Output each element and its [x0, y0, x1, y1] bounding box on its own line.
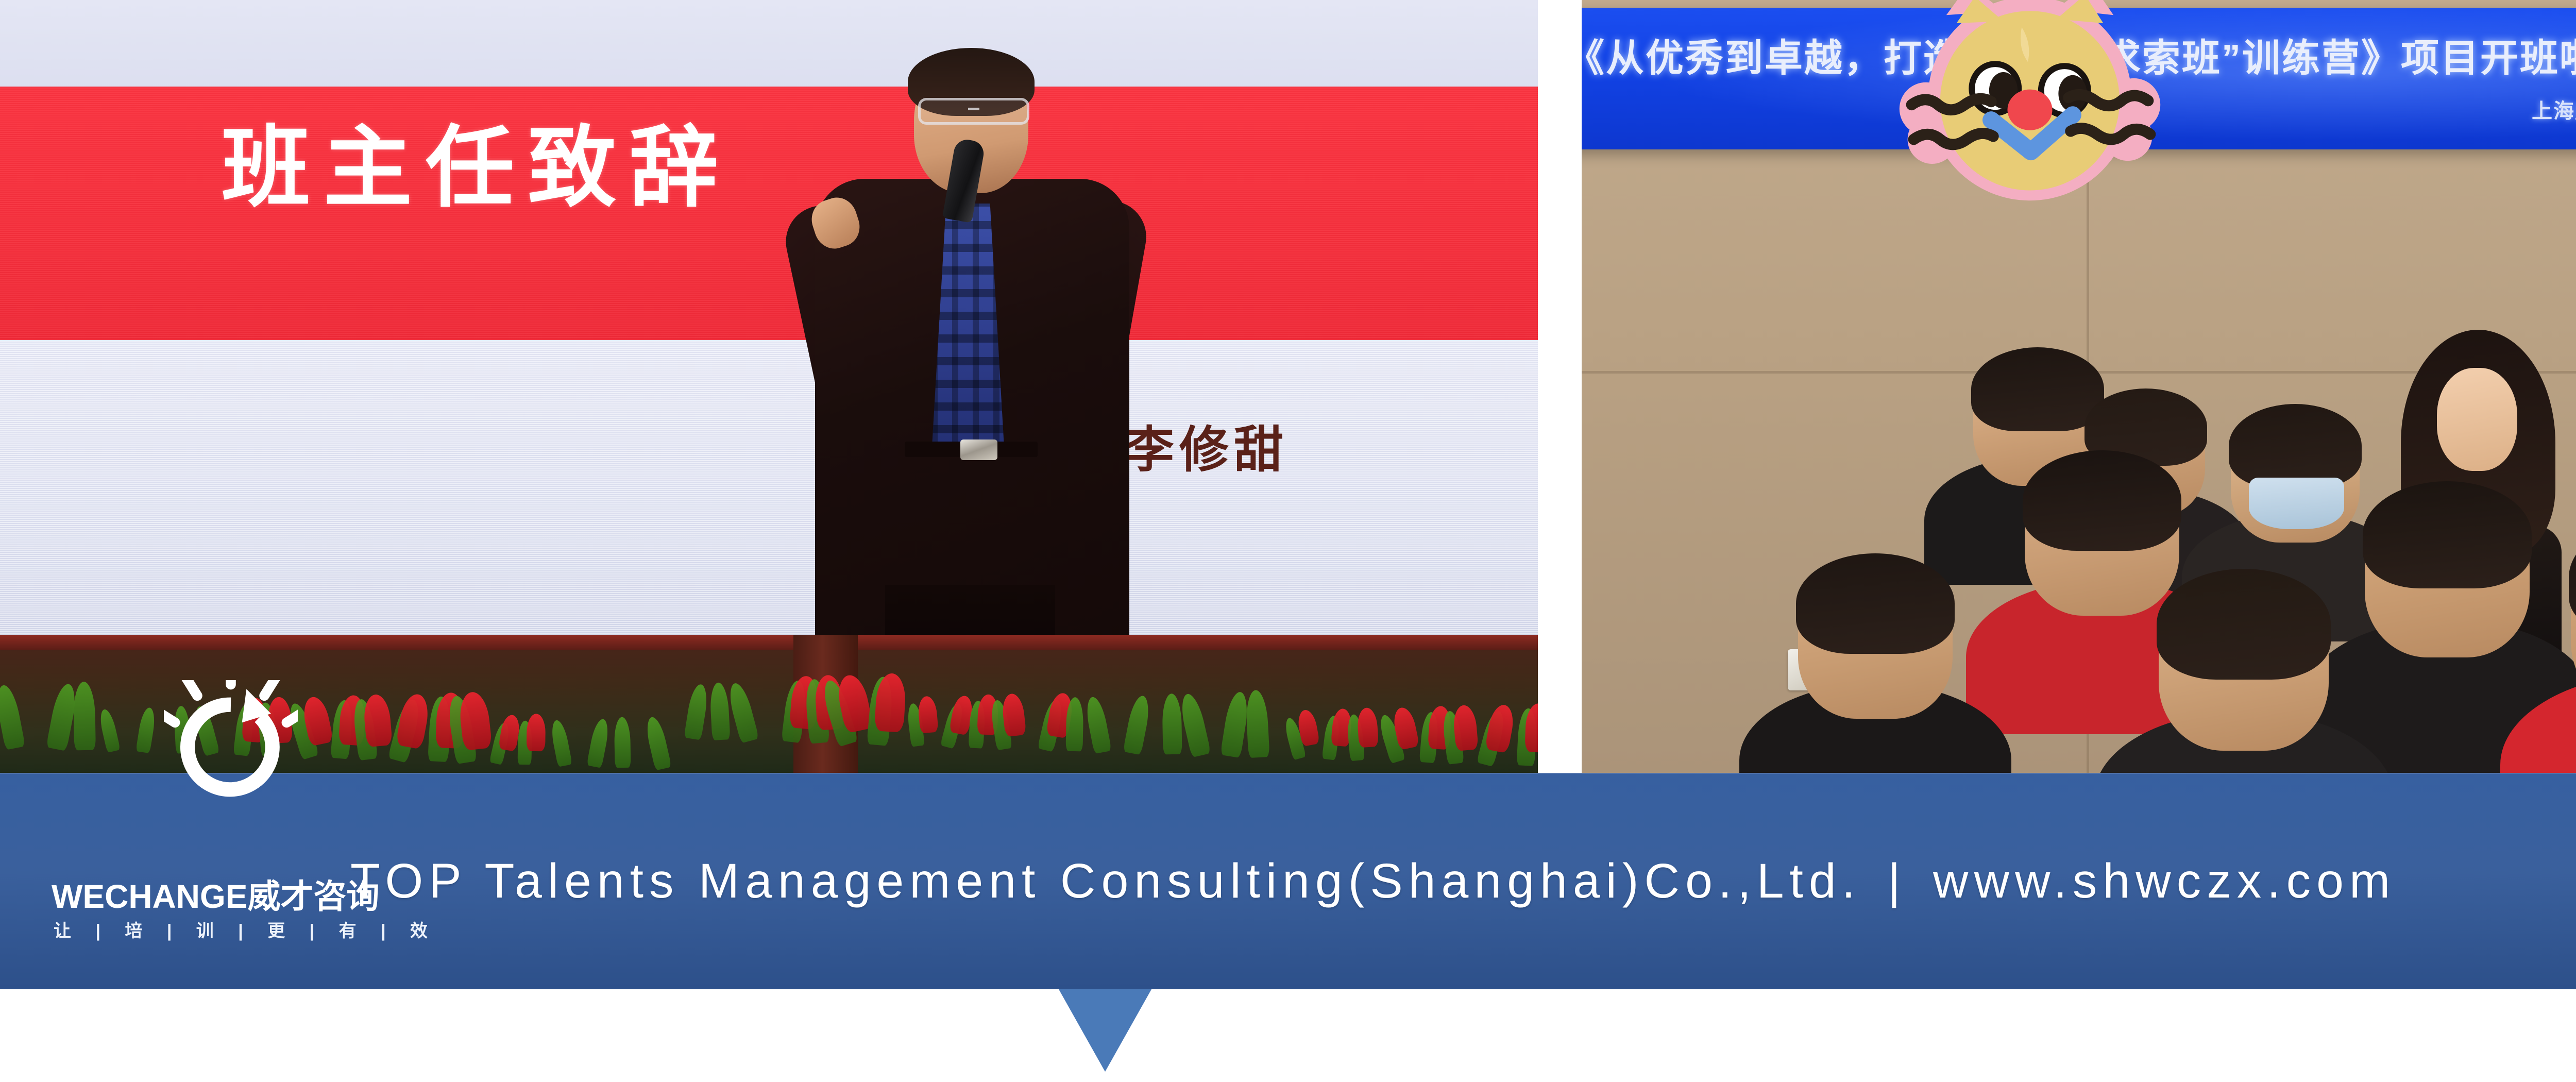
brand-footer-bar: WECHANGE威才咨询 让 | 培 | 训 | 更 | 有 | 效 TOP T…: [0, 773, 2576, 989]
planter-flower: [1485, 703, 1516, 753]
audience-hair: [2157, 569, 2331, 680]
cat-face-sticker-icon: [1896, 0, 2164, 213]
planter-leaf: [586, 718, 611, 768]
down-triangle-pointer: [1059, 989, 1151, 1072]
planter-leaf: [98, 708, 121, 753]
company-website[interactable]: www.shwczx.com: [1933, 854, 2396, 908]
planter-leaf: [73, 682, 96, 751]
planter-leaf: [1178, 692, 1211, 758]
planter-leaf: [1245, 689, 1270, 758]
photo-collage-banner: 班主任致辞 李修甜: [0, 0, 2576, 1082]
planter-leaf: [709, 682, 731, 740]
stage-speaker-photo: 班主任致辞 李修甜: [0, 0, 1538, 773]
audience-hair: [2229, 404, 2362, 488]
projection-screen-title: 班主任致辞: [222, 124, 732, 212]
speaker-eyeglasses: [918, 98, 1029, 125]
face-mask-icon: [2249, 478, 2344, 529]
projection-screen-white-band: [0, 340, 1538, 636]
planter-leaf: [643, 715, 672, 770]
audience-hair: [2023, 450, 2181, 551]
planter-leaf: [1162, 694, 1182, 754]
audience-hair: [2363, 481, 2532, 588]
bottom-white-area: [0, 989, 2576, 1082]
company-name-en-line: TOP Talents Management Consulting(Shangh…: [350, 857, 2396, 906]
classroom-audience-photo: 《从优秀到卓越，打造高绩效“求索班”训练营》项目开班啦 上海威才企业管理咨询: [1582, 0, 2576, 773]
planter-leaf: [684, 683, 709, 740]
planter-leaf: [1083, 696, 1112, 754]
planter-flower: [395, 692, 431, 750]
planter-leaf: [726, 681, 759, 743]
planter-flower: [1357, 707, 1379, 748]
brand-separator: |: [1861, 857, 1933, 906]
company-name-en: TOP Talents Management Consulting(Shangh…: [350, 854, 1861, 908]
speaker-belt-buckle: [960, 439, 997, 460]
planter-leaf: [549, 719, 572, 767]
audience-hair: [1971, 347, 2104, 431]
planter-flower: [1452, 704, 1479, 751]
planter-flower: [527, 714, 546, 751]
planter-flower: [362, 694, 393, 747]
logo-tagline: 让 | 培 | 训 | 更 | 有 | 效: [54, 922, 363, 940]
planter-leaf: [1123, 694, 1152, 755]
planter-leaf: [614, 717, 631, 768]
circular-arrow-refresh-icon: [164, 680, 298, 814]
planter-leaf: [1220, 690, 1250, 758]
planter-leaf: [0, 683, 25, 750]
company-logo: WECHANGE威才咨询 让 | 培 | 训 | 更 | 有 | 效: [0, 773, 350, 989]
projection-screen-top-band: [0, 0, 1538, 90]
speaker-figure: [783, 49, 1154, 688]
planter-flower: [1001, 692, 1027, 737]
planter-leaf: [1066, 697, 1084, 751]
logo-wordmark: WECHANGE威才咨询: [52, 880, 361, 913]
planter-leaf: [135, 706, 157, 753]
planter-flower: [917, 696, 938, 734]
audience-hair: [1796, 553, 1955, 654]
